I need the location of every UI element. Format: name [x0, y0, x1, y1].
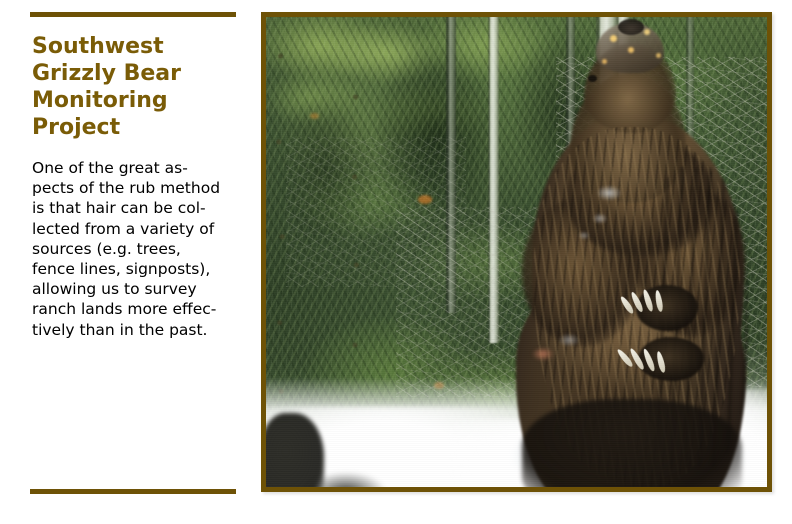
- sun-glint: [610, 35, 617, 42]
- description-line: fence lines, signposts),: [32, 259, 238, 279]
- sun-glint: [628, 47, 634, 53]
- bear-chest-highlight: [592, 213, 608, 224]
- page-title-line: Monitoring: [32, 88, 168, 113]
- divider-rule-top: [30, 12, 236, 17]
- bear-nose: [618, 19, 644, 35]
- bear-eye: [588, 75, 597, 82]
- description-line: allowing us to survey: [32, 279, 238, 299]
- page-title-line: Southwest: [32, 34, 164, 59]
- bear-flank-highlight: [558, 333, 580, 347]
- divider-rule-bottom: [30, 489, 236, 494]
- sun-glint: [656, 53, 661, 58]
- sun-glint: [644, 29, 650, 35]
- photo-frame: [261, 12, 772, 492]
- bear-chest-highlight: [596, 185, 622, 201]
- description-line: lected from a variety of: [32, 219, 238, 239]
- description-line: tively than in the past.: [32, 320, 238, 340]
- description-line: pects of the rub method: [32, 178, 238, 198]
- bear-rub-mark: [532, 347, 554, 361]
- page-title-line: Grizzly Bear: [32, 61, 181, 86]
- page-root: Southwest Grizzly Bear Monitoring Projec…: [0, 0, 792, 524]
- description-line: sources (e.g. trees,: [32, 239, 238, 259]
- project-description: One of the great as- pects of the rub me…: [32, 158, 238, 340]
- grizzly-bear: [266, 17, 767, 487]
- bear-hindquarters: [522, 399, 742, 487]
- description-line: is that hair can be col-: [32, 198, 238, 218]
- sun-glint: [602, 59, 607, 64]
- grizzly-bear-photo: [266, 17, 767, 487]
- description-line: One of the great as-: [32, 158, 238, 178]
- page-title: Southwest Grizzly Bear Monitoring Projec…: [32, 33, 236, 141]
- bear-chest-highlight: [578, 231, 590, 240]
- description-line: ranch lands more effec-: [32, 299, 238, 319]
- text-column: Southwest Grizzly Bear Monitoring Projec…: [30, 12, 236, 494]
- page-title-line: Project: [32, 115, 120, 140]
